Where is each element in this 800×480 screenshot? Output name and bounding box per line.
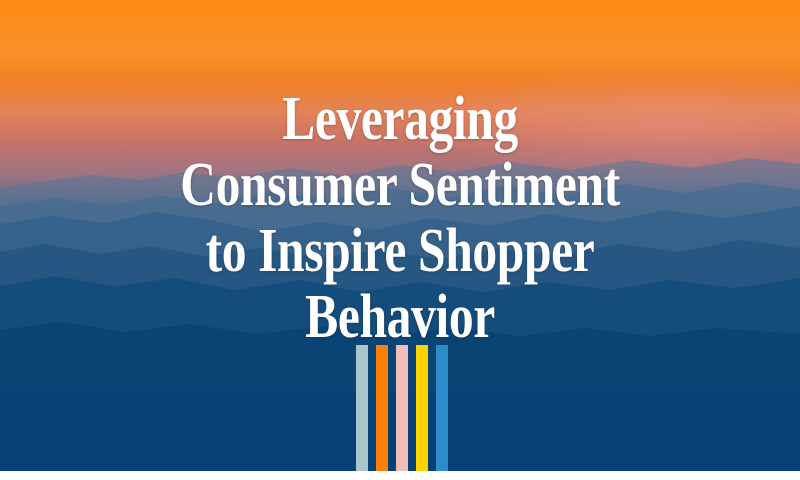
accent-bar-group bbox=[356, 345, 448, 471]
accent-bar-light-blue bbox=[356, 345, 368, 471]
title-line-3: to Inspire Shopper bbox=[80, 218, 720, 284]
accent-bar-yellow bbox=[416, 345, 428, 471]
title-line-4: Behavior bbox=[80, 284, 720, 350]
bottom-white-strip bbox=[0, 471, 800, 480]
accent-bar-blue bbox=[436, 345, 448, 471]
page-title: Leveraging Consumer Sentiment to Inspire… bbox=[80, 86, 720, 350]
accent-bar-orange bbox=[376, 345, 388, 471]
accent-bar-pink bbox=[396, 345, 408, 471]
title-slide: Leveraging Consumer Sentiment to Inspire… bbox=[0, 0, 800, 480]
title-line-2: Consumer Sentiment bbox=[80, 152, 720, 218]
title-line-1: Leveraging bbox=[80, 86, 720, 152]
